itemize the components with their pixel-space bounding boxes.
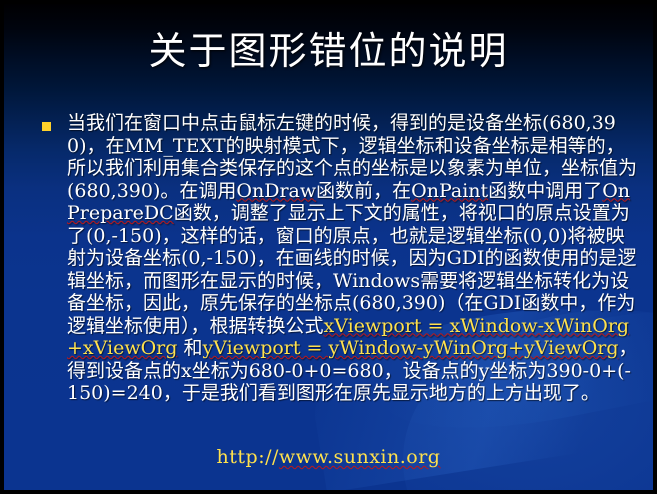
slide-body: 当我们在窗口中点击鼠标左键的时候，得到的是设备坐标(680,390)，在MM_T… xyxy=(42,112,642,405)
footer-url[interactable]: http://www.sunxin.org xyxy=(217,446,441,468)
body-segment-4: 函数中调用了 xyxy=(488,180,602,202)
bullet-square-icon xyxy=(42,122,51,131)
footer-url-prefix: http:// xyxy=(217,446,279,468)
body-segment-2: 函数前，在 xyxy=(316,180,411,202)
body-segment-8: 和 xyxy=(177,337,202,359)
presentation-slide: 关于图形错位的说明 当我们在窗口中点击鼠标左键的时候，得到的是设备坐标(680,… xyxy=(0,0,657,494)
body-segment-3: OnPaint xyxy=(411,180,488,202)
body-segment-1: OnDraw xyxy=(236,180,316,202)
slide-frame: 关于图形错位的说明 当我们在窗口中点击鼠标左键的时候，得到的是设备坐标(680,… xyxy=(4,4,653,490)
body-segment-9: yViewport = yWindow-yWinOrg+yViewOrg xyxy=(202,337,618,359)
body-paragraph: 当我们在窗口中点击鼠标左键的时候，得到的是设备坐标(680,390)，在MM_T… xyxy=(67,112,642,405)
slide-footer: http://www.sunxin.org xyxy=(4,446,653,468)
slide-title: 关于图形错位的说明 xyxy=(4,28,653,74)
footer-url-domain: www.sunxin.org xyxy=(279,446,441,468)
